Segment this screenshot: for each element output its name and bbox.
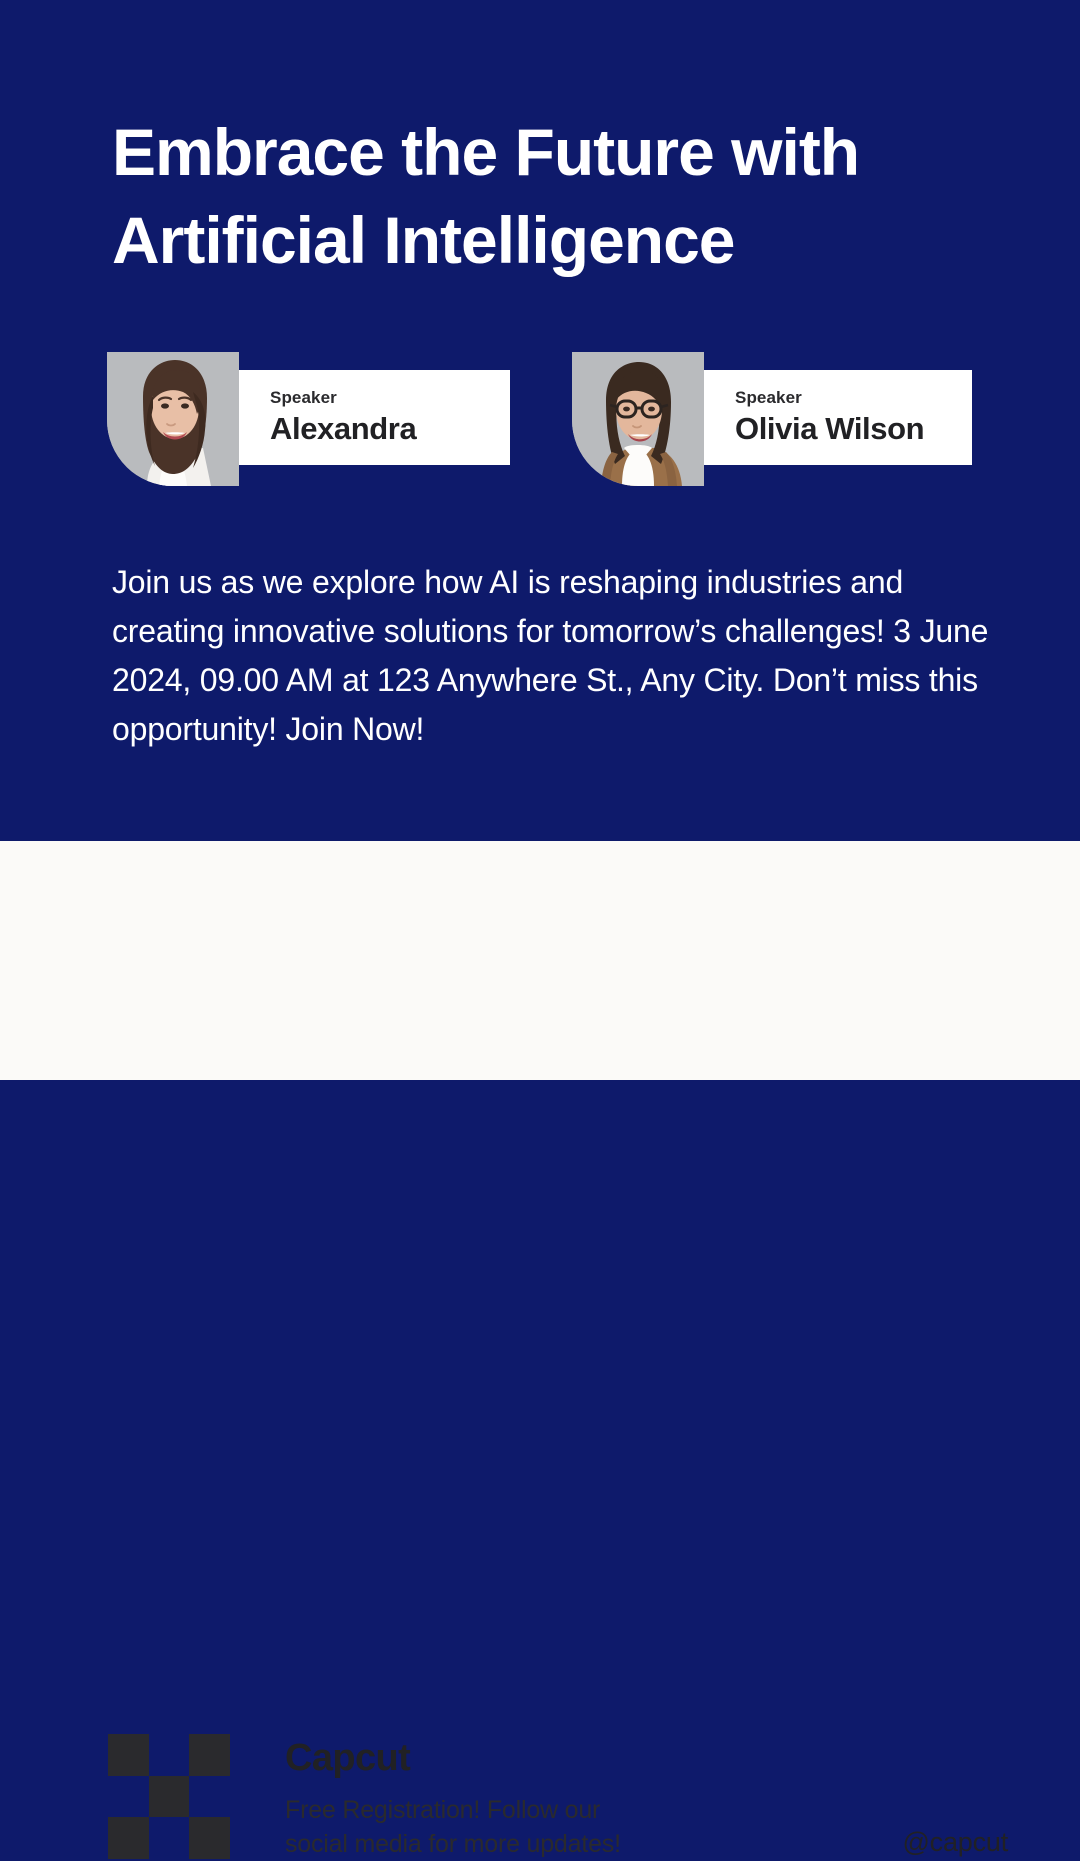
speaker-portrait-photo xyxy=(572,352,704,486)
speaker-role-label: Speaker xyxy=(735,387,972,408)
footer-tagline: Free Registration! Follow our social med… xyxy=(285,1793,725,1861)
page-title: Embrace the Future with Artificial Intel… xyxy=(112,108,1012,284)
checkerboard-logo-icon xyxy=(108,1734,230,1859)
speaker-info-panel: Speaker Alexandra xyxy=(238,370,510,465)
poster-canvas: Embrace the Future with Artificial Intel… xyxy=(0,0,1080,1080)
event-description: Join us as we explore how AI is reshapin… xyxy=(112,558,992,754)
speaker-portrait-photo xyxy=(107,352,239,486)
social-handle: @capcut xyxy=(902,1827,1008,1858)
speaker-name: Olivia Wilson xyxy=(735,409,972,449)
footer-text-block: Capcut Free Registration! Follow our soc… xyxy=(285,1734,725,1861)
speaker-role-label: Speaker xyxy=(270,387,510,408)
speaker-name: Alexandra xyxy=(270,409,510,449)
footer-bar: Capcut Free Registration! Follow our soc… xyxy=(0,841,1080,1080)
speaker-card: Speaker Olivia Wilson xyxy=(572,352,972,486)
speaker-card: Speaker Alexandra xyxy=(107,352,510,486)
speaker-info-panel: Speaker Olivia Wilson xyxy=(703,370,972,465)
brand-name: Capcut xyxy=(285,1734,725,1782)
